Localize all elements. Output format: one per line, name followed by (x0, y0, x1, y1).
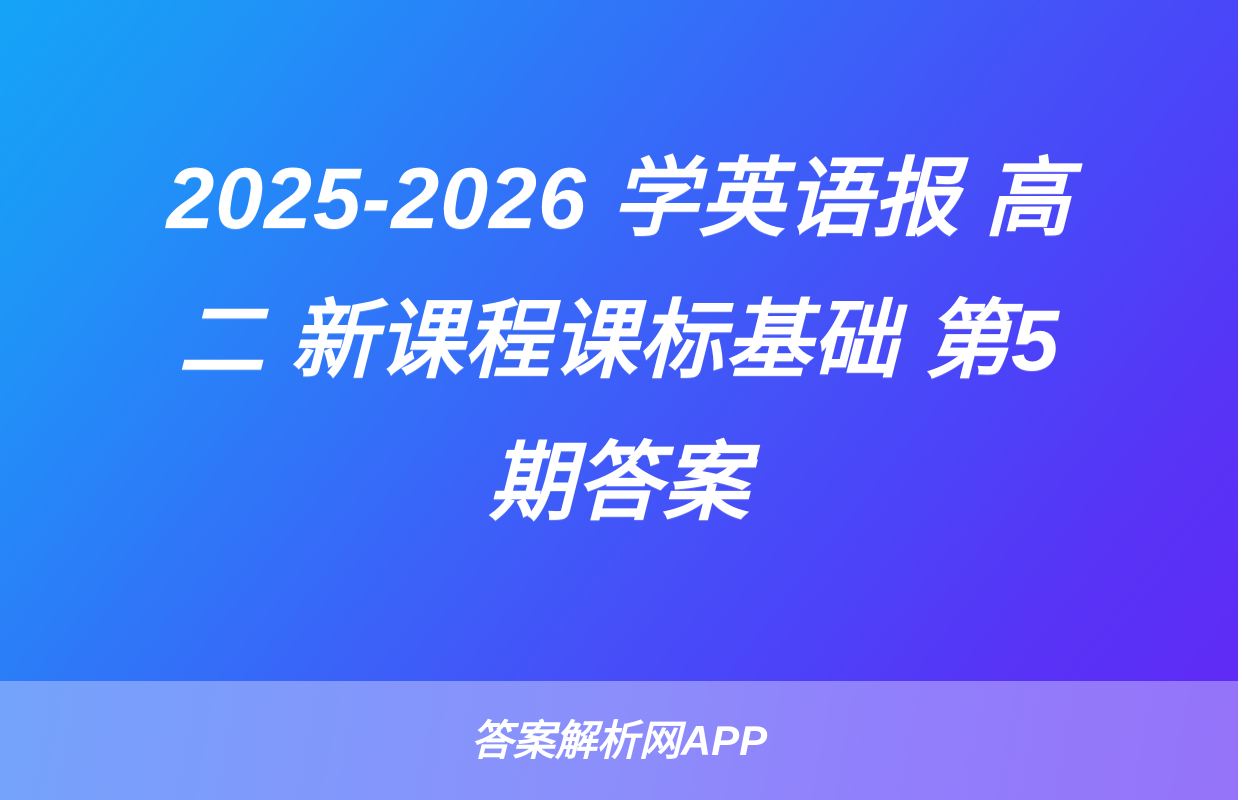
title-line-2: 二 新课程课标基础 第5 (178, 293, 1060, 389)
page-title: 2025-2026 学英语报 高二 新课程课标基础 第5期答案 (54, 128, 1184, 554)
title-line-3: 期答案 (489, 435, 750, 531)
app-watermark-label: 答案解析网APP (471, 720, 767, 762)
right-edge-divider (1238, 0, 1242, 800)
title-block: 2025-2026 学英语报 高二 新课程课标基础 第5期答案 (0, 0, 1238, 681)
footer-watermark-bar: 答案解析网APP (0, 681, 1238, 800)
title-line-1: 2025-2026 学英语报 高 (166, 151, 1071, 247)
answer-card-canvas: 2025-2026 学英语报 高二 新课程课标基础 第5期答案 答案解析网APP (0, 0, 1242, 800)
